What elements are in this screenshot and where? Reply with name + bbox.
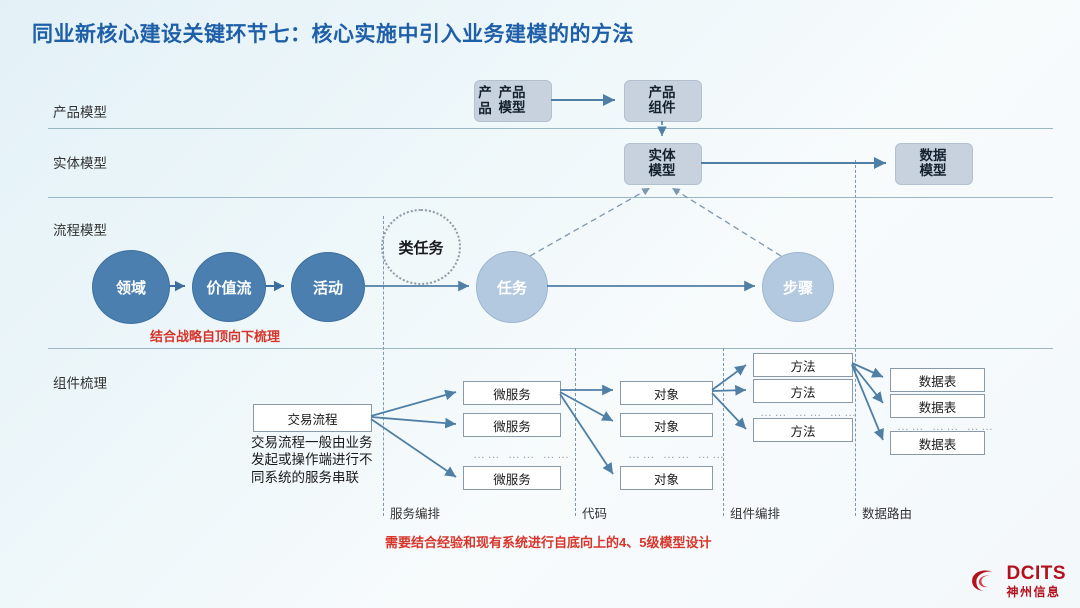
ellipsis-method: …… …… …… bbox=[760, 405, 859, 419]
column-label-code: 代码 bbox=[582, 503, 607, 522]
box-transaction-flow[interactable]: 交易流程 bbox=[253, 404, 372, 432]
box-method[interactable]: 方法 bbox=[753, 379, 853, 403]
band-label-component-sorting: 组件梳理 bbox=[53, 372, 107, 392]
band-divider-2 bbox=[48, 197, 1053, 198]
component-red-note: 需要结合经验和现有系统进行自底向上的4、5级模型设计 bbox=[385, 532, 711, 551]
logo-cn: 神州信息 bbox=[1007, 586, 1067, 598]
circle-class-task[interactable]: 类任务 bbox=[381, 209, 461, 285]
box-microservice[interactable]: 微服务 bbox=[463, 466, 561, 490]
box-product-model[interactable]: 产品 bbox=[474, 80, 552, 122]
band-divider-1 bbox=[48, 128, 1053, 129]
box-method[interactable]: 方法 bbox=[753, 418, 853, 442]
column-label-component-orchestration: 组件编排 bbox=[730, 503, 780, 522]
circle-domain[interactable]: 领域 bbox=[92, 250, 170, 324]
box-data-table[interactable]: 数据表 bbox=[890, 394, 985, 418]
ellipsis-microservice: …… …… …… bbox=[473, 447, 572, 461]
box-microservice[interactable]: 微服务 bbox=[463, 381, 561, 405]
column-label-data-routing: 数据路由 bbox=[862, 503, 912, 522]
band-label-entity-model: 实体模型 bbox=[53, 152, 107, 172]
circle-step[interactable]: 步骤 bbox=[762, 252, 834, 322]
page-title: 同业新核心建设关键环节七：核心实施中引入业务建模的的方法 bbox=[32, 18, 634, 48]
band-label-process-model: 流程模型 bbox=[53, 219, 107, 239]
circle-task[interactable]: 任务 bbox=[476, 251, 548, 323]
box-data-table[interactable]: 数据表 bbox=[890, 368, 985, 392]
transaction-flow-note: 交易流程一般由业务发起或操作端进行不同系统的服务串联 bbox=[251, 434, 373, 486]
box-product-model-line1: 产品 bbox=[475, 85, 495, 116]
box-microservice[interactable]: 微服务 bbox=[463, 413, 561, 437]
ellipsis-object: …… …… …… bbox=[628, 447, 727, 461]
logo-en: DCITS bbox=[1007, 564, 1067, 583]
column-label-service-orchestration: 服务编排 bbox=[390, 503, 440, 522]
separator-component-orchestration bbox=[723, 348, 724, 516]
circle-value-stream[interactable]: 价值流 bbox=[192, 252, 266, 322]
slide-canvas: 同业新核心建设关键环节七：核心实施中引入业务建模的的方法 产品模型 实体模型 流… bbox=[0, 0, 1080, 608]
box-entity-model[interactable] bbox=[624, 143, 702, 185]
brand-logo: DCITS 神州信息 bbox=[967, 564, 1067, 598]
band-divider-3 bbox=[48, 348, 1053, 349]
box-product-component[interactable] bbox=[624, 80, 702, 122]
logo-text: DCITS 神州信息 bbox=[1007, 564, 1067, 598]
separator-data-routing bbox=[855, 160, 856, 516]
circle-activity[interactable]: 活动 bbox=[291, 252, 365, 322]
box-object[interactable]: 对象 bbox=[620, 466, 713, 490]
box-data-model[interactable] bbox=[895, 143, 973, 185]
separator-code bbox=[575, 348, 576, 516]
box-data-table[interactable]: 数据表 bbox=[890, 431, 985, 455]
box-method[interactable]: 方法 bbox=[753, 353, 853, 377]
box-object[interactable]: 对象 bbox=[620, 381, 713, 405]
band-label-product-model: 产品模型 bbox=[53, 101, 107, 121]
process-red-note: 结合战略自顶向下梳理 bbox=[150, 326, 280, 345]
dcits-swirl-icon bbox=[967, 564, 1001, 598]
box-object[interactable]: 对象 bbox=[620, 413, 713, 437]
